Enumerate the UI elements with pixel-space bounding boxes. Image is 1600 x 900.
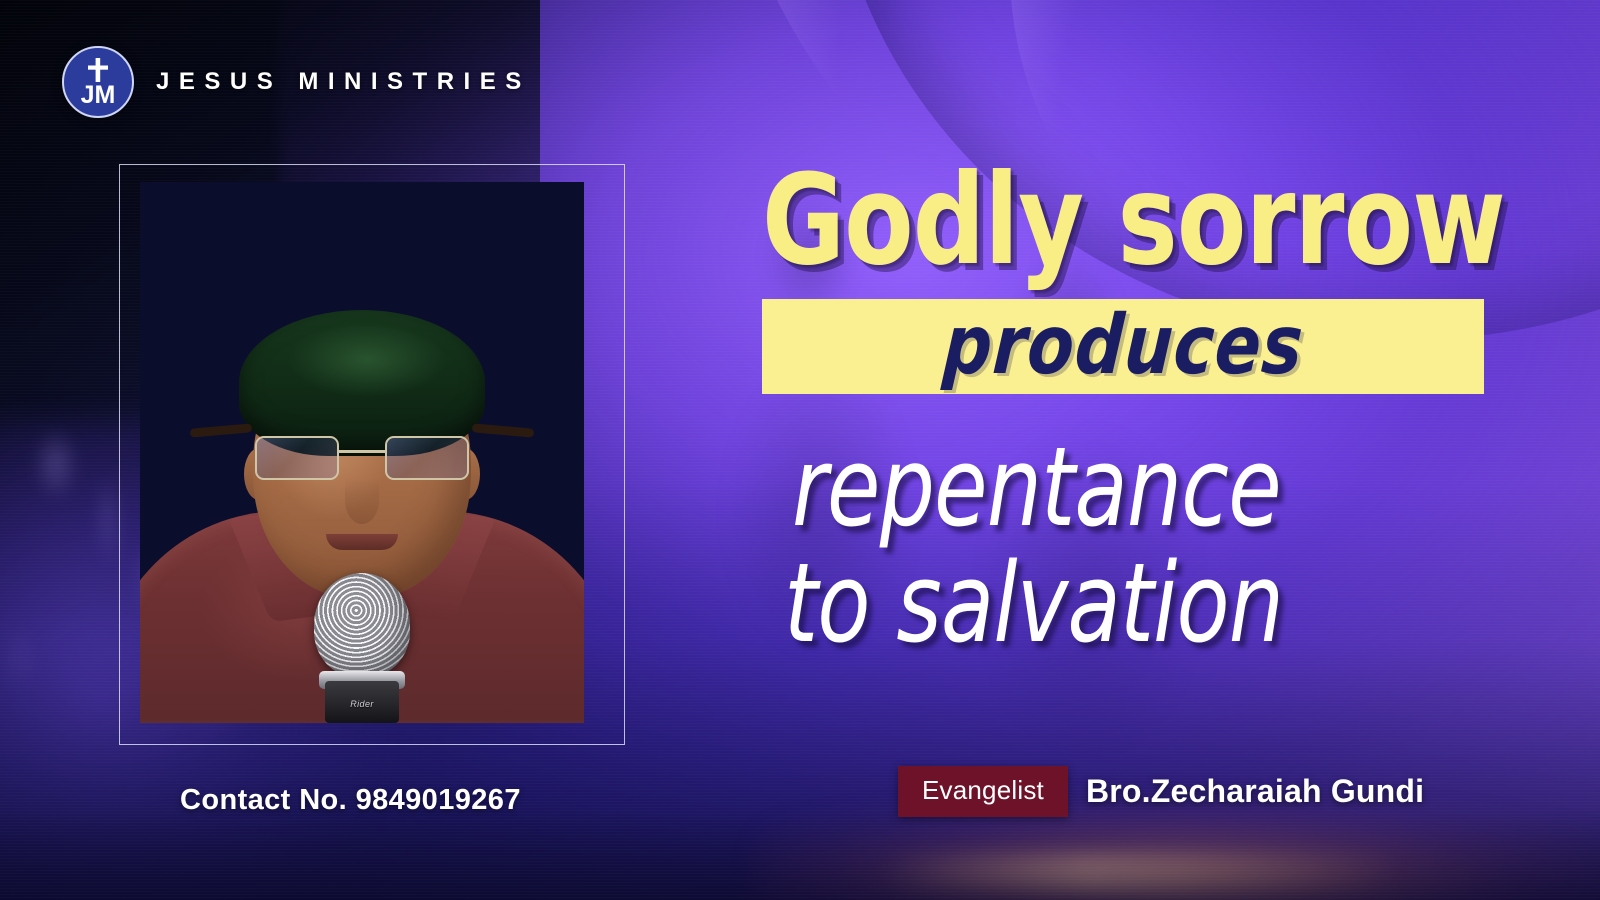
contact-number: Contact No. 9849019267 bbox=[180, 784, 521, 817]
brand-name: JESUS MINISTRIES bbox=[156, 68, 531, 96]
microphone-brand-label: Rider bbox=[350, 699, 374, 709]
eyeglass-lens-left bbox=[255, 436, 339, 480]
poster-canvas: JM JESUS MINISTRIES Rider Godly bbox=[0, 0, 1600, 900]
eyeglass-lens-right bbox=[385, 436, 469, 480]
role-badge: Evangelist bbox=[898, 766, 1068, 817]
speaker-credit: Evangelist Bro.Zecharaiah Gundi bbox=[898, 766, 1424, 817]
background-bottom-fade bbox=[0, 810, 1600, 900]
speaker-name: Bro.Zecharaiah Gundi bbox=[1086, 773, 1424, 810]
portrait-eyeglasses bbox=[255, 432, 469, 484]
headline-line-2: produces bbox=[941, 305, 1306, 387]
brand-lockup: JM JESUS MINISTRIES bbox=[62, 46, 531, 118]
cross-jm-monogram-icon: JM bbox=[62, 46, 134, 118]
headline-line-3: repentance bbox=[792, 432, 1417, 542]
portrait-nose bbox=[345, 478, 379, 524]
headline-line-4: to salvation bbox=[784, 548, 1416, 658]
microphone-grille bbox=[314, 573, 410, 677]
eyeglass-bridge bbox=[339, 450, 385, 453]
portrait-mouth bbox=[326, 534, 398, 550]
portrait-eyebrow-left bbox=[190, 423, 253, 437]
speaker-photo: Rider bbox=[140, 182, 584, 723]
svg-text:JM: JM bbox=[81, 81, 116, 108]
portrait-eyebrow-right bbox=[472, 423, 535, 437]
headline-line-1: Godly sorrow bbox=[762, 160, 1428, 283]
headline-highlight-band: produces bbox=[762, 299, 1484, 394]
headline-block: Godly sorrow produces repentance to salv… bbox=[762, 160, 1502, 658]
